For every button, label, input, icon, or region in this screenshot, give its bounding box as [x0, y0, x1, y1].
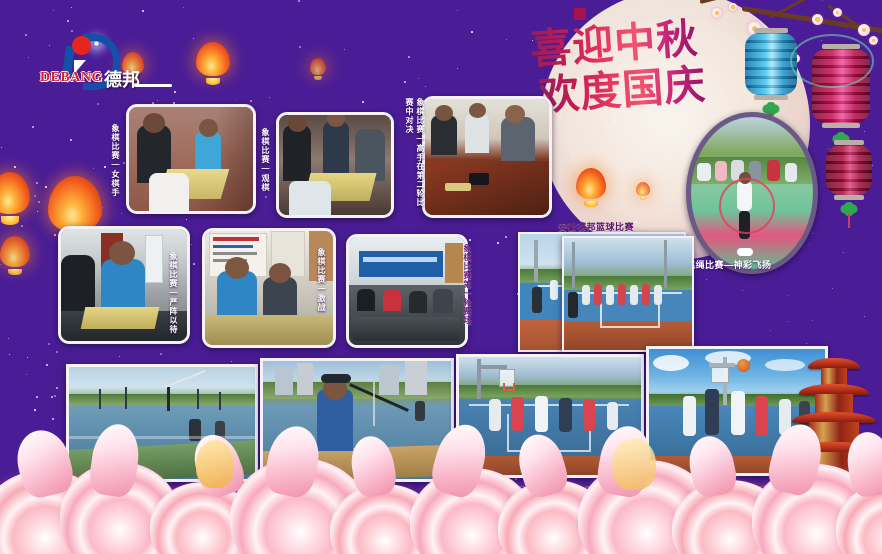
- caption-chess-round-two-final: 象棋比赛—高手在第二轮比赛中对决: [404, 98, 426, 208]
- photo-chess-female-player[interactable]: [126, 104, 256, 214]
- caption-chess-ready: 象棋比赛—严阵以待: [168, 252, 179, 336]
- festival-poster: 喜迎中秋 欢度国庆 DEBANG 德邦 象棋比赛—女棋手: [0, 0, 882, 554]
- lantern-ring-decoration: [790, 34, 874, 88]
- debang-logo: DEBANG 德邦: [40, 34, 162, 96]
- logo-underline: [134, 84, 172, 87]
- sky-lantern: [310, 58, 326, 80]
- caption-chess-fierce-battle: 象棋比赛—激战: [316, 248, 327, 338]
- sky-lantern: [636, 182, 650, 200]
- logo-latin-text: DEBANG: [40, 70, 103, 86]
- caption-chess-female-player: 象棋比赛—女棋手: [110, 124, 121, 206]
- caption-chess-first-round-venue: 象棋比赛第一轮赛场: [462, 244, 473, 340]
- photo-rope-skipping[interactable]: [686, 112, 818, 274]
- photo-chess-first-round-venue[interactable]: [346, 234, 468, 348]
- caption-anhui-debang-basketball: 安徽德邦篮球比赛: [558, 220, 634, 233]
- title-line-2: 欢度国庆: [536, 50, 708, 122]
- sky-lantern: [0, 236, 30, 276]
- sky-lantern: [196, 42, 230, 86]
- logo-chinese-text: 德邦: [104, 66, 140, 92]
- caption-rope-skipping: 跳绳比赛—神彩飞扬: [686, 258, 772, 271]
- blue-hanging-lantern: [745, 28, 797, 100]
- sky-lantern: [0, 172, 30, 226]
- photo-chess-round-two-final[interactable]: [422, 96, 552, 218]
- sky-lantern: [576, 168, 606, 208]
- photo-chess-watching[interactable]: [276, 112, 394, 218]
- peony-flower-border: [0, 424, 882, 554]
- crimson-hanging-lantern: [826, 140, 872, 200]
- caption-chess-watching: 象棋比赛—观棋: [260, 128, 271, 204]
- photo-anhui-debang-basketball-wide[interactable]: [562, 236, 694, 352]
